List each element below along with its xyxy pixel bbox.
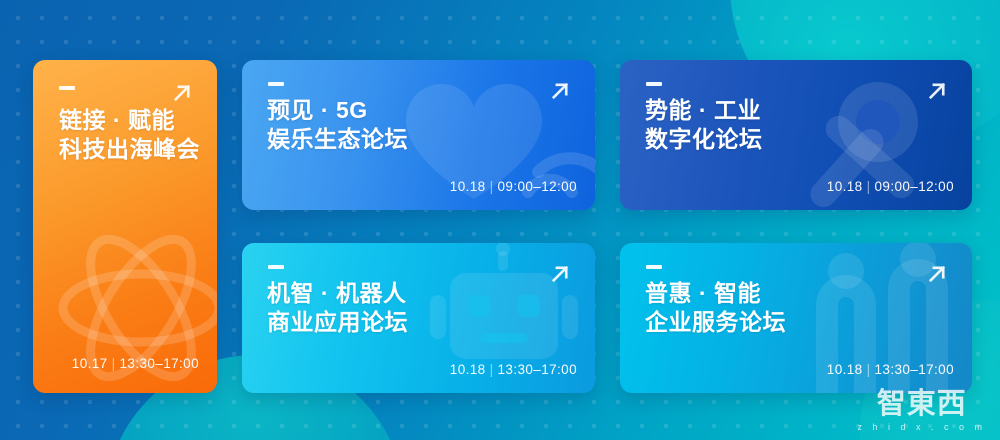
- meta-separator: |: [486, 179, 498, 194]
- meta-separator: |: [486, 362, 498, 377]
- dash-icon: [646, 265, 662, 269]
- watermark-logo: 智東西 z h i d x . c o m: [857, 390, 986, 432]
- card-industry-title: 势能 · 工业 数字化论坛: [645, 96, 763, 155]
- card-industry-date: 10.18: [827, 179, 863, 194]
- dash-icon: [268, 265, 284, 269]
- card-robot-title: 机智 · 机器人 商业应用论坛: [267, 279, 408, 338]
- card-summit[interactable]: 链接 · 赋能 科技出海峰会 10.17|13:30–17:00: [33, 60, 217, 393]
- card-industry-time: 09:00–12:00: [875, 179, 954, 194]
- arrow-up-right-icon[interactable]: [167, 78, 197, 108]
- card-summit-time: 13:30–17:00: [120, 356, 199, 371]
- arrow-up-right-icon[interactable]: [545, 259, 575, 289]
- arrow-up-right-icon[interactable]: [922, 259, 952, 289]
- card-summit-title: 链接 · 赋能 科技出海峰会: [59, 106, 200, 165]
- watermark-brand-en: z h i d x . c o m: [857, 422, 986, 432]
- card-enterprise-date: 10.18: [827, 362, 863, 377]
- watermark-brand-cn: 智東西: [857, 390, 986, 419]
- dash-icon: [59, 86, 75, 90]
- poster-canvas: 链接 · 赋能 科技出海峰会 10.17|13:30–17:00 预见 · 5G…: [0, 0, 1000, 440]
- dash-icon: [646, 82, 662, 86]
- arrow-up-right-icon[interactable]: [545, 76, 575, 106]
- card-summit-date: 10.17: [72, 356, 108, 371]
- card-5g-meta: 10.18|09:00–12:00: [242, 179, 577, 194]
- meta-separator: |: [108, 356, 120, 371]
- arrow-up-right-icon[interactable]: [922, 76, 952, 106]
- card-enterprise-meta: 10.18|13:30–17:00: [620, 362, 954, 377]
- card-5g-title: 预见 · 5G 娱乐生态论坛: [267, 96, 408, 155]
- card-enterprise-service[interactable]: 普惠 · 智能 企业服务论坛 10.18|13:30–17:00: [620, 243, 972, 393]
- card-enterprise-time: 13:30–17:00: [875, 362, 954, 377]
- dash-icon: [268, 82, 284, 86]
- card-enterprise-title: 普惠 · 智能 企业服务论坛: [645, 279, 786, 338]
- card-5g-time: 09:00–12:00: [498, 179, 577, 194]
- meta-separator: |: [863, 179, 875, 194]
- card-industry-meta: 10.18|09:00–12:00: [620, 179, 954, 194]
- card-5g-date: 10.18: [450, 179, 486, 194]
- card-robot-meta: 10.18|13:30–17:00: [242, 362, 577, 377]
- card-5g-entertainment[interactable]: 预见 · 5G 娱乐生态论坛 10.18|09:00–12:00: [242, 60, 595, 210]
- card-robot-date: 10.18: [450, 362, 486, 377]
- card-robot-time: 13:30–17:00: [498, 362, 577, 377]
- card-industrial-digitalization[interactable]: 势能 · 工业 数字化论坛 10.18|09:00–12:00: [620, 60, 972, 210]
- card-robot-business[interactable]: 机智 · 机器人 商业应用论坛 10.18|13:30–17:00: [242, 243, 595, 393]
- meta-separator: |: [863, 362, 875, 377]
- card-summit-meta: 10.17|13:30–17:00: [33, 356, 199, 371]
